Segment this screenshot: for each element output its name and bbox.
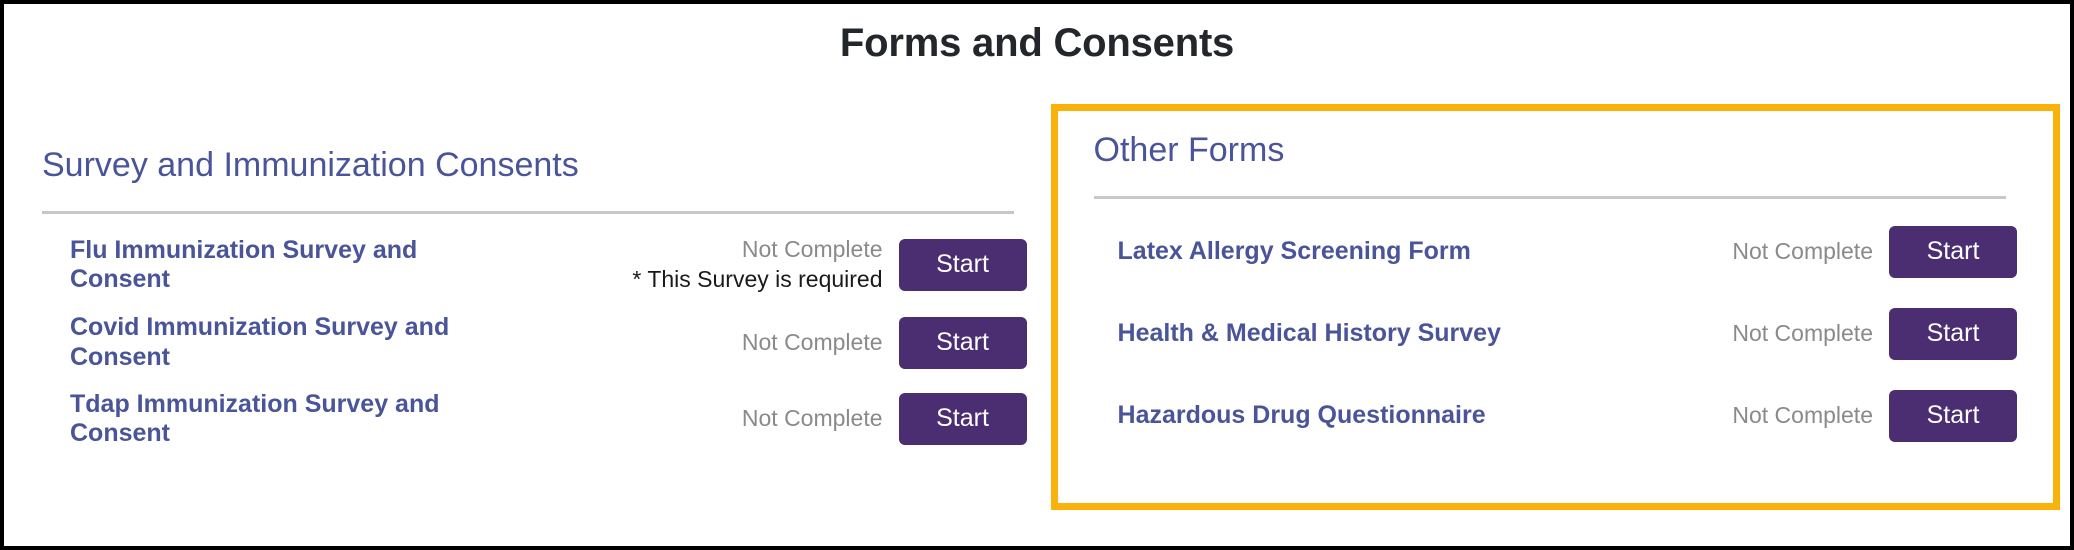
forms-and-consents-screen: Forms and Consents Survey and Immunizati… — [0, 0, 2074, 550]
table-row: Tdap Immunization Survey and Consent Not… — [42, 381, 1027, 458]
start-button-tdap-immunization[interactable]: Start — [899, 393, 1027, 445]
status-cell: Not Complete — [510, 404, 899, 434]
other-forms-column: Other Forms Latex Allergy Screening Form… — [1051, 104, 2070, 510]
status-cell: Not Complete — [1728, 237, 1889, 267]
start-button-flu-immunization[interactable]: Start — [899, 239, 1027, 291]
page-title: Forms and Consents — [4, 4, 2070, 65]
status-badge: Not Complete — [1728, 237, 1873, 267]
section-heading-other-forms: Other Forms — [1094, 129, 2017, 178]
form-link-latex-allergy-screening[interactable]: Latex Allergy Screening Form — [1118, 237, 1728, 266]
status-badge: Not Complete — [510, 235, 883, 265]
section-divider — [42, 211, 1014, 214]
survey-consents-column: Survey and Immunization Consents Flu Imm… — [4, 104, 1051, 457]
status-cell: Not Complete * This Survey is required — [510, 235, 899, 296]
start-button-hazardous-drug-questionnaire[interactable]: Start — [1889, 390, 2017, 442]
status-badge: Not Complete — [510, 328, 883, 358]
other-forms-panel-highlighted: Other Forms Latex Allergy Screening Form… — [1051, 104, 2060, 510]
status-cell: Not Complete — [510, 328, 899, 358]
form-link-health-medical-history[interactable]: Health & Medical History Survey — [1118, 319, 1728, 348]
start-button-latex-allergy-screening[interactable]: Start — [1889, 226, 2017, 278]
forms-columns: Survey and Immunization Consents Flu Imm… — [4, 104, 2070, 510]
status-badge: Not Complete — [1728, 319, 1873, 349]
form-link-covid-immunization[interactable]: Covid Immunization Survey and Consent — [70, 313, 510, 372]
status-badge: Not Complete — [510, 404, 883, 434]
form-link-hazardous-drug-questionnaire[interactable]: Hazardous Drug Questionnaire — [1118, 401, 1728, 430]
section-heading-survey-consents: Survey and Immunization Consents — [42, 144, 1027, 193]
table-row: Latex Allergy Screening Form Not Complet… — [1094, 211, 2017, 293]
survey-consents-panel: Survey and Immunization Consents Flu Imm… — [42, 144, 1027, 457]
table-row: Health & Medical History Survey Not Comp… — [1094, 293, 2017, 375]
table-row: Covid Immunization Survey and Consent No… — [42, 304, 1027, 381]
section-divider — [1094, 196, 2006, 199]
required-note: * This Survey is required — [510, 264, 883, 295]
status-cell: Not Complete — [1728, 401, 1889, 431]
form-link-tdap-immunization[interactable]: Tdap Immunization Survey and Consent — [70, 390, 510, 449]
table-row: Flu Immunization Survey and Consent Not … — [42, 226, 1027, 305]
start-button-covid-immunization[interactable]: Start — [899, 317, 1027, 369]
status-cell: Not Complete — [1728, 319, 1889, 349]
table-row: Hazardous Drug Questionnaire Not Complet… — [1094, 375, 2017, 457]
form-link-flu-immunization[interactable]: Flu Immunization Survey and Consent — [70, 236, 510, 295]
status-badge: Not Complete — [1728, 401, 1873, 431]
start-button-health-medical-history[interactable]: Start — [1889, 308, 2017, 360]
